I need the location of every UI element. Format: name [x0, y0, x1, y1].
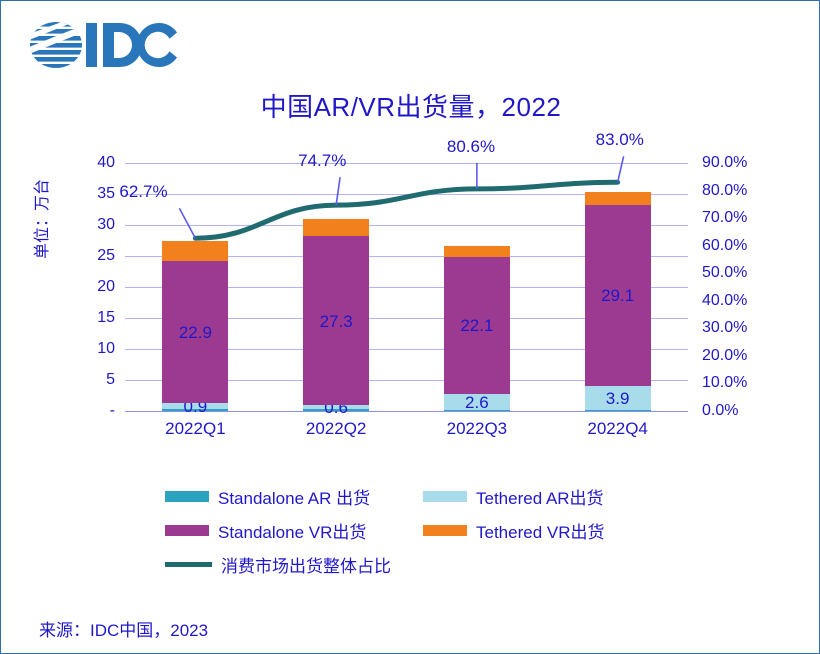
- legend-label: 消费市场出货整体占比: [221, 552, 391, 577]
- y-axis-right-tick: 40.0%: [702, 293, 772, 309]
- y-axis-left-tick: 5: [73, 372, 115, 388]
- y-axis-right-tick: 10.0%: [702, 375, 772, 391]
- y-axis-right-tick: 20.0%: [702, 348, 772, 364]
- line-point-value-label: 62.7%: [119, 182, 167, 202]
- y-axis-right-tick: 70.0%: [702, 210, 772, 226]
- legend-line-icon: [165, 562, 212, 567]
- y-axis-right-tick: 60.0%: [702, 238, 772, 254]
- legend-label: Standalone VR出货: [218, 518, 366, 543]
- y-axis-left-tick: 30: [73, 217, 115, 233]
- line-series-overlay: [125, 163, 688, 411]
- y-axis-title: 单位：万台: [28, 144, 52, 294]
- legend-row-1: Standalone AR 出货 Tethered AR出货: [165, 479, 685, 513]
- legend-item-consumer-share[interactable]: 消费市场出货整体占比: [165, 552, 391, 577]
- legend-row-3: 消费市场出货整体占比: [165, 547, 685, 581]
- legend-swatch-icon: [423, 525, 467, 536]
- legend-item-tethered-vr[interactable]: Tethered VR出货: [423, 518, 605, 543]
- source-note: 来源：IDC中国，2023: [39, 616, 208, 641]
- x-axis-tick-label: 2022Q1: [135, 419, 255, 439]
- legend-item-standalone-ar[interactable]: Standalone AR 出货: [165, 484, 423, 509]
- y-axis-right-tick: 30.0%: [702, 320, 772, 336]
- line-point-value-label: 74.7%: [298, 151, 346, 171]
- chart-page: 中国AR/VR出货量，2022 单位：万台 403530252015105- 9…: [0, 0, 820, 654]
- plot-area: 403530252015105- 90.0%80.0%70.0%60.0%50.…: [125, 163, 688, 411]
- label-leader-line: [336, 177, 340, 205]
- legend-label: Tethered VR出货: [476, 518, 605, 543]
- label-leader-line: [618, 156, 624, 182]
- legend-row-2: Standalone VR出货 Tethered VR出货: [165, 513, 685, 547]
- y-axis-left-tick: -: [73, 403, 115, 419]
- y-axis-left-tick: 35: [73, 186, 115, 202]
- idc-logo: [29, 17, 199, 73]
- y-axis-left-tick: 10: [73, 341, 115, 357]
- line-series-path[interactable]: [195, 182, 617, 238]
- y-axis-right-tick: 0.0%: [702, 403, 772, 419]
- legend-swatch-icon: [165, 525, 209, 536]
- legend-label: Standalone AR 出货: [218, 484, 370, 509]
- legend-swatch-icon: [165, 491, 209, 502]
- legend: Standalone AR 出货 Tethered AR出货 Standalon…: [165, 479, 685, 581]
- line-point-value-label: 80.6%: [447, 137, 495, 157]
- y-axis-right-tick: 80.0%: [702, 183, 772, 199]
- line-point-value-label: 83.0%: [596, 130, 644, 150]
- y-axis-right-tick: 90.0%: [702, 155, 772, 171]
- legend-label: Tethered AR出货: [476, 484, 604, 509]
- legend-item-standalone-vr[interactable]: Standalone VR出货: [165, 518, 423, 543]
- legend-item-tethered-ar[interactable]: Tethered AR出货: [423, 484, 604, 509]
- x-axis-tick-label: 2022Q2: [276, 419, 396, 439]
- y-axis-left-tick: 15: [73, 310, 115, 326]
- x-axis-tick-label: 2022Q4: [558, 419, 678, 439]
- legend-swatch-icon: [423, 491, 467, 502]
- y-axis-left-tick: 20: [73, 279, 115, 295]
- y-axis-right-tick: 50.0%: [702, 265, 772, 281]
- y-axis-left-tick: 25: [73, 248, 115, 264]
- x-axis-tick-label: 2022Q3: [417, 419, 537, 439]
- y-axis-left-tick: 40: [73, 155, 115, 171]
- label-leader-line: [179, 208, 195, 238]
- page-title: 中国AR/VR出货量，2022: [1, 87, 820, 124]
